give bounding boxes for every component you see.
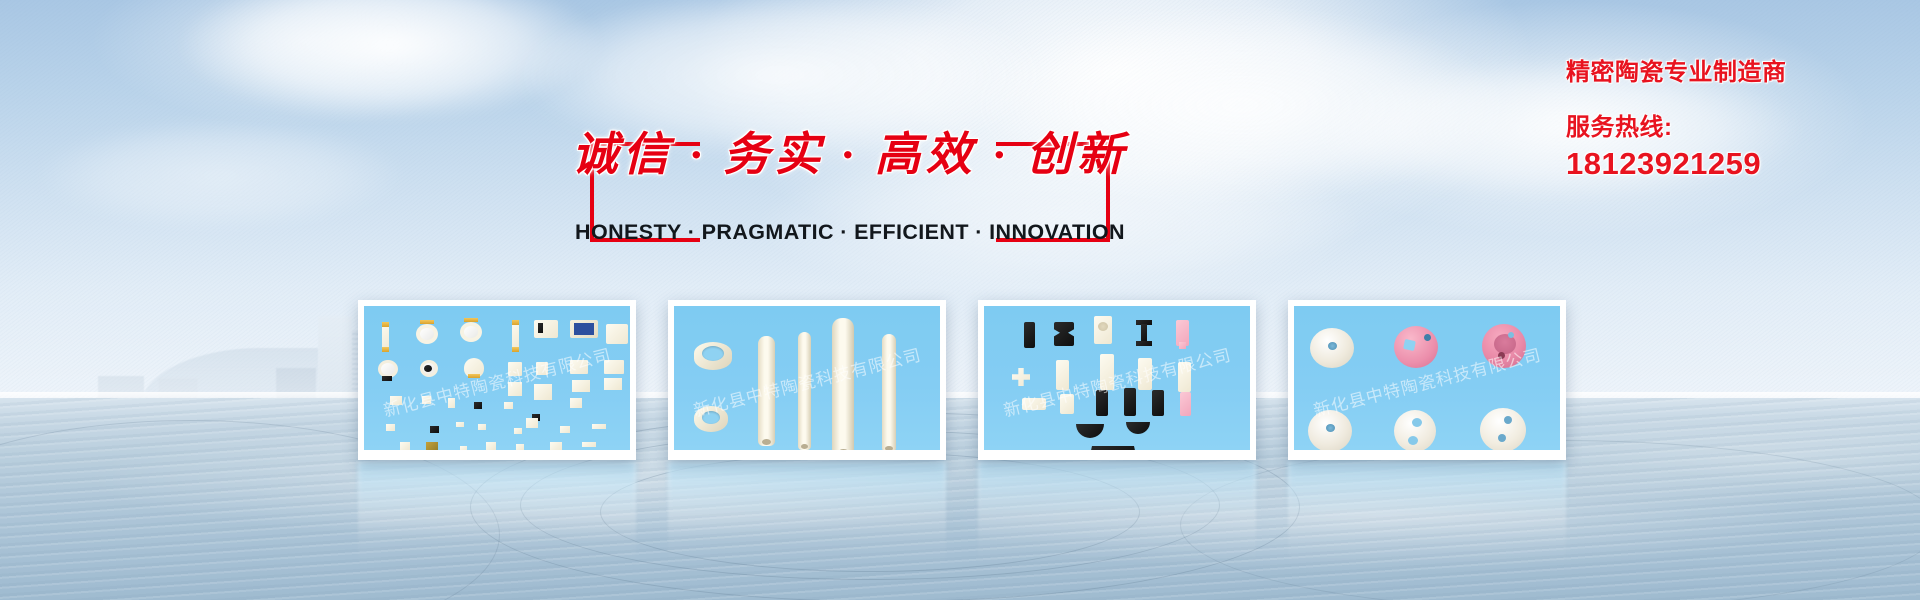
hotline-number[interactable]: 18123921259 <box>1566 146 1896 182</box>
panel-reflection <box>978 462 1256 566</box>
panel-image-1: 新化县中特陶瓷科技有限公司 <box>364 306 630 450</box>
hero-banner: 诚信 · 务实 · 高效 · 创新 HONESTY · PRAGMATIC · … <box>0 0 1920 600</box>
panel-reflection <box>358 462 636 566</box>
slogan-block: 诚信 · 务实 · 高效 · 创新 HONESTY · PRAGMATIC · … <box>590 142 1110 208</box>
slogan-english: HONESTY · PRAGMATIC · EFFICIENT · INNOVA… <box>554 220 1146 245</box>
product-panel-3[interactable]: 新化县中特陶瓷科技有限公司 <box>978 300 1256 460</box>
manufacturer-tagline: 精密陶瓷专业制造商 <box>1566 52 1896 87</box>
panel-reflection <box>1288 462 1566 566</box>
product-panel-4[interactable]: 新化县中特陶瓷科技有限公司 <box>1288 300 1566 460</box>
panel-image-3: 新化县中特陶瓷科技有限公司 <box>984 306 1250 450</box>
panel-reflections <box>358 462 1588 582</box>
product-panel-2[interactable]: 新化县中特陶瓷科技有限公司 <box>668 300 946 460</box>
slogan-chinese: 诚信 · 务实 · 高效 · 创新 <box>560 118 1140 184</box>
contact-block: 精密陶瓷专业制造商 服务热线: 18123921259 <box>1566 52 1896 182</box>
product-panels: 新化县中特陶瓷科技有限公司 新化县中特陶瓷科技有限公司 <box>358 300 1588 460</box>
product-panel-1[interactable]: 新化县中特陶瓷科技有限公司 <box>358 300 636 460</box>
cloud <box>40 120 400 230</box>
panel-image-4: 新化县中特陶瓷科技有限公司 <box>1294 306 1560 450</box>
panel-image-2: 新化县中特陶瓷科技有限公司 <box>674 306 940 450</box>
hotline-label: 服务热线: <box>1566 107 1896 142</box>
panel-reflection <box>668 462 946 566</box>
